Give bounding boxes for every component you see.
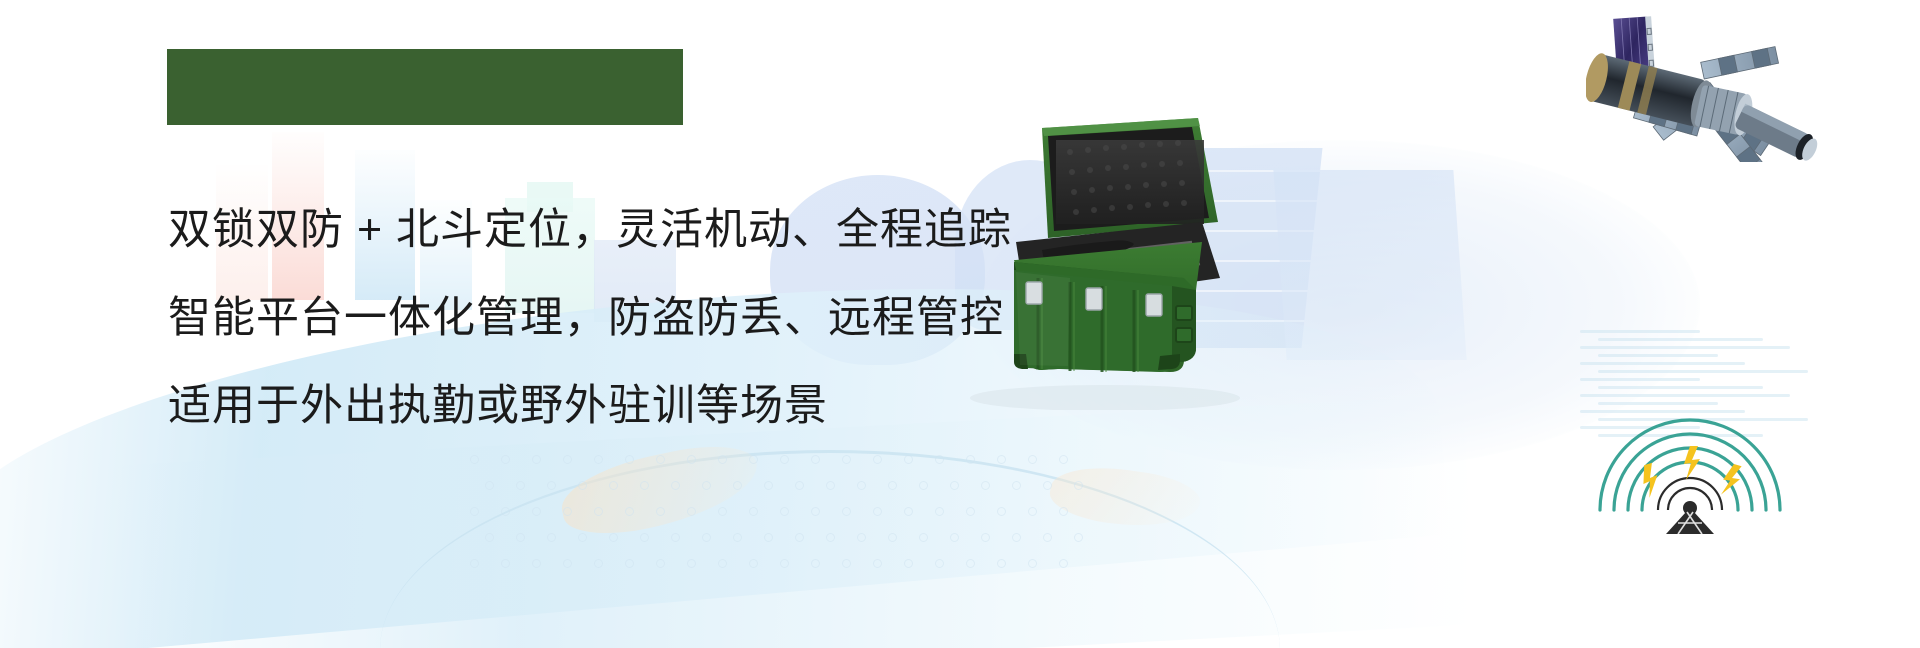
signal-wave-arcs — [1600, 420, 1780, 510]
backdrop-dot — [749, 559, 758, 568]
backdrop-paper-line — [1580, 330, 1700, 333]
backdrop-dot — [795, 533, 804, 542]
skyline-building-right — [1273, 170, 1466, 360]
backdrop-dot — [1012, 533, 1021, 542]
backdrop-dot — [935, 507, 944, 516]
backdrop-dot — [470, 507, 479, 516]
backdrop-dot — [873, 455, 882, 464]
backdrop-dot — [919, 533, 928, 542]
backdrop-dot — [563, 455, 572, 464]
backdrop-dot — [904, 559, 913, 568]
backdrop-dot — [997, 455, 1006, 464]
backdrop-dot — [702, 533, 711, 542]
backdrop-dot — [826, 533, 835, 542]
backdrop-dot — [749, 507, 758, 516]
backdrop-dot — [1043, 533, 1052, 542]
backdrop-dot — [687, 455, 696, 464]
backdrop-dot — [904, 507, 913, 516]
signal-tower-icon — [1590, 360, 1790, 535]
backdrop-dot — [966, 507, 975, 516]
backdrop-dot — [563, 507, 572, 516]
backdrop-dot — [888, 533, 897, 542]
backdrop-dot — [966, 455, 975, 464]
feature-line: 适用于外出执勤或野外驻训等场景 — [168, 362, 1012, 450]
backdrop-dot — [485, 481, 494, 490]
backdrop-dot — [733, 481, 742, 490]
satellite-illustration — [1586, 2, 1836, 162]
backdrop-dot — [609, 481, 618, 490]
backdrop-dot — [594, 507, 603, 516]
backdrop-dot — [656, 455, 665, 464]
backdrop-dot — [780, 559, 789, 568]
backdrop-dot — [935, 455, 944, 464]
lightning-bolt-icon — [1638, 446, 1743, 498]
backdrop-accent-orange-2 — [1047, 460, 1203, 535]
backdrop-dot — [904, 455, 913, 464]
backdrop-dot — [516, 533, 525, 542]
backdrop-dot — [671, 533, 680, 542]
backdrop-dot — [842, 559, 851, 568]
feature-line: 双锁双防 + 北斗定位，灵活机动、全程追踪 — [168, 186, 1012, 274]
backdrop-dot — [1059, 507, 1068, 516]
backdrop-dot — [1028, 507, 1037, 516]
backdrop-dot — [873, 559, 882, 568]
backdrop-dot — [532, 559, 541, 568]
backdrop-dot — [501, 455, 510, 464]
backdrop-dot — [1059, 559, 1068, 568]
backdrop-dot — [780, 455, 789, 464]
backdrop-paper-line — [1580, 346, 1790, 349]
backdrop-dot — [919, 481, 928, 490]
backdrop-dot — [501, 559, 510, 568]
signal-tower-illustration — [1590, 360, 1790, 535]
backdrop-dot — [532, 455, 541, 464]
backdrop-dot — [702, 481, 711, 490]
backdrop-dot — [470, 559, 479, 568]
backdrop-dot — [780, 507, 789, 516]
backdrop-dot — [656, 559, 665, 568]
backdrop-dot — [625, 559, 634, 568]
backdrop-dot — [687, 559, 696, 568]
backdrop-dot — [826, 481, 835, 490]
backdrop-dot — [1059, 455, 1068, 464]
backdrop-dot — [749, 455, 758, 464]
backdrop-dot — [547, 481, 556, 490]
backdrop-dot — [547, 533, 556, 542]
backdrop-dot — [950, 481, 959, 490]
backdrop-dot — [625, 507, 634, 516]
backdrop-dot — [1028, 559, 1037, 568]
backdrop-dot — [1012, 481, 1021, 490]
backdrop-dot-grid — [470, 455, 1090, 585]
promo-banner: WSTEC 智能枪弹箱 双锁双防 + 北斗定位，灵活机动、全程追踪 智能平台一体… — [0, 0, 1920, 648]
backdrop-accent-orange-1 — [555, 435, 765, 545]
backdrop-dot — [1074, 481, 1083, 490]
backdrop-road-curve — [380, 450, 1280, 648]
backdrop-dot — [764, 481, 773, 490]
feature-line: 智能平台一体化管理，防盗防丢、远程管控 — [168, 274, 1012, 362]
backdrop-dot — [997, 559, 1006, 568]
backdrop-dot — [842, 455, 851, 464]
backdrop-dot — [764, 533, 773, 542]
backdrop-dot — [1028, 455, 1037, 464]
backdrop-dot — [935, 559, 944, 568]
backdrop-dot — [981, 481, 990, 490]
backdrop-dot — [1074, 533, 1083, 542]
backdrop-dot — [811, 559, 820, 568]
backdrop-dot — [811, 455, 820, 464]
backdrop-dot — [640, 481, 649, 490]
backdrop-dot — [857, 533, 866, 542]
backdrop-dot — [516, 481, 525, 490]
backdrop-dot — [997, 507, 1006, 516]
backdrop-dot — [718, 507, 727, 516]
backdrop-dot — [501, 507, 510, 516]
backdrop-dot — [485, 533, 494, 542]
backdrop-dot — [718, 559, 727, 568]
backdrop-dot — [950, 533, 959, 542]
backdrop-dot — [842, 507, 851, 516]
backdrop-dot — [718, 455, 727, 464]
backdrop-dot — [795, 481, 804, 490]
backdrop-dot — [578, 481, 587, 490]
backdrop-dot — [532, 507, 541, 516]
backdrop-dot — [857, 481, 866, 490]
title-bar-shape — [167, 49, 683, 125]
backdrop-dot — [640, 533, 649, 542]
backdrop-dot — [733, 533, 742, 542]
feature-list: 双锁双防 + 北斗定位，灵活机动、全程追踪 智能平台一体化管理，防盗防丢、远程管… — [168, 186, 1012, 450]
backdrop-dot — [671, 481, 680, 490]
backdrop-paper-line — [1598, 354, 1718, 357]
backdrop-dot — [687, 507, 696, 516]
satellite-icon — [1586, 2, 1836, 162]
backdrop-dot — [873, 507, 882, 516]
backdrop-dot — [811, 507, 820, 516]
backdrop-dot — [888, 481, 897, 490]
backdrop-paper-line — [1598, 338, 1763, 341]
title-bar: WSTEC 智能枪弹箱 — [167, 49, 683, 125]
backdrop-dot — [1043, 481, 1052, 490]
backdrop-dot — [594, 559, 603, 568]
backdrop-dot — [563, 559, 572, 568]
backdrop-dot — [609, 533, 618, 542]
backdrop-dot — [625, 455, 634, 464]
backdrop-dot — [981, 533, 990, 542]
backdrop-dot — [578, 533, 587, 542]
backdrop-dot — [470, 455, 479, 464]
backdrop-dot — [594, 455, 603, 464]
backdrop-dot — [656, 507, 665, 516]
backdrop-dot — [966, 559, 975, 568]
